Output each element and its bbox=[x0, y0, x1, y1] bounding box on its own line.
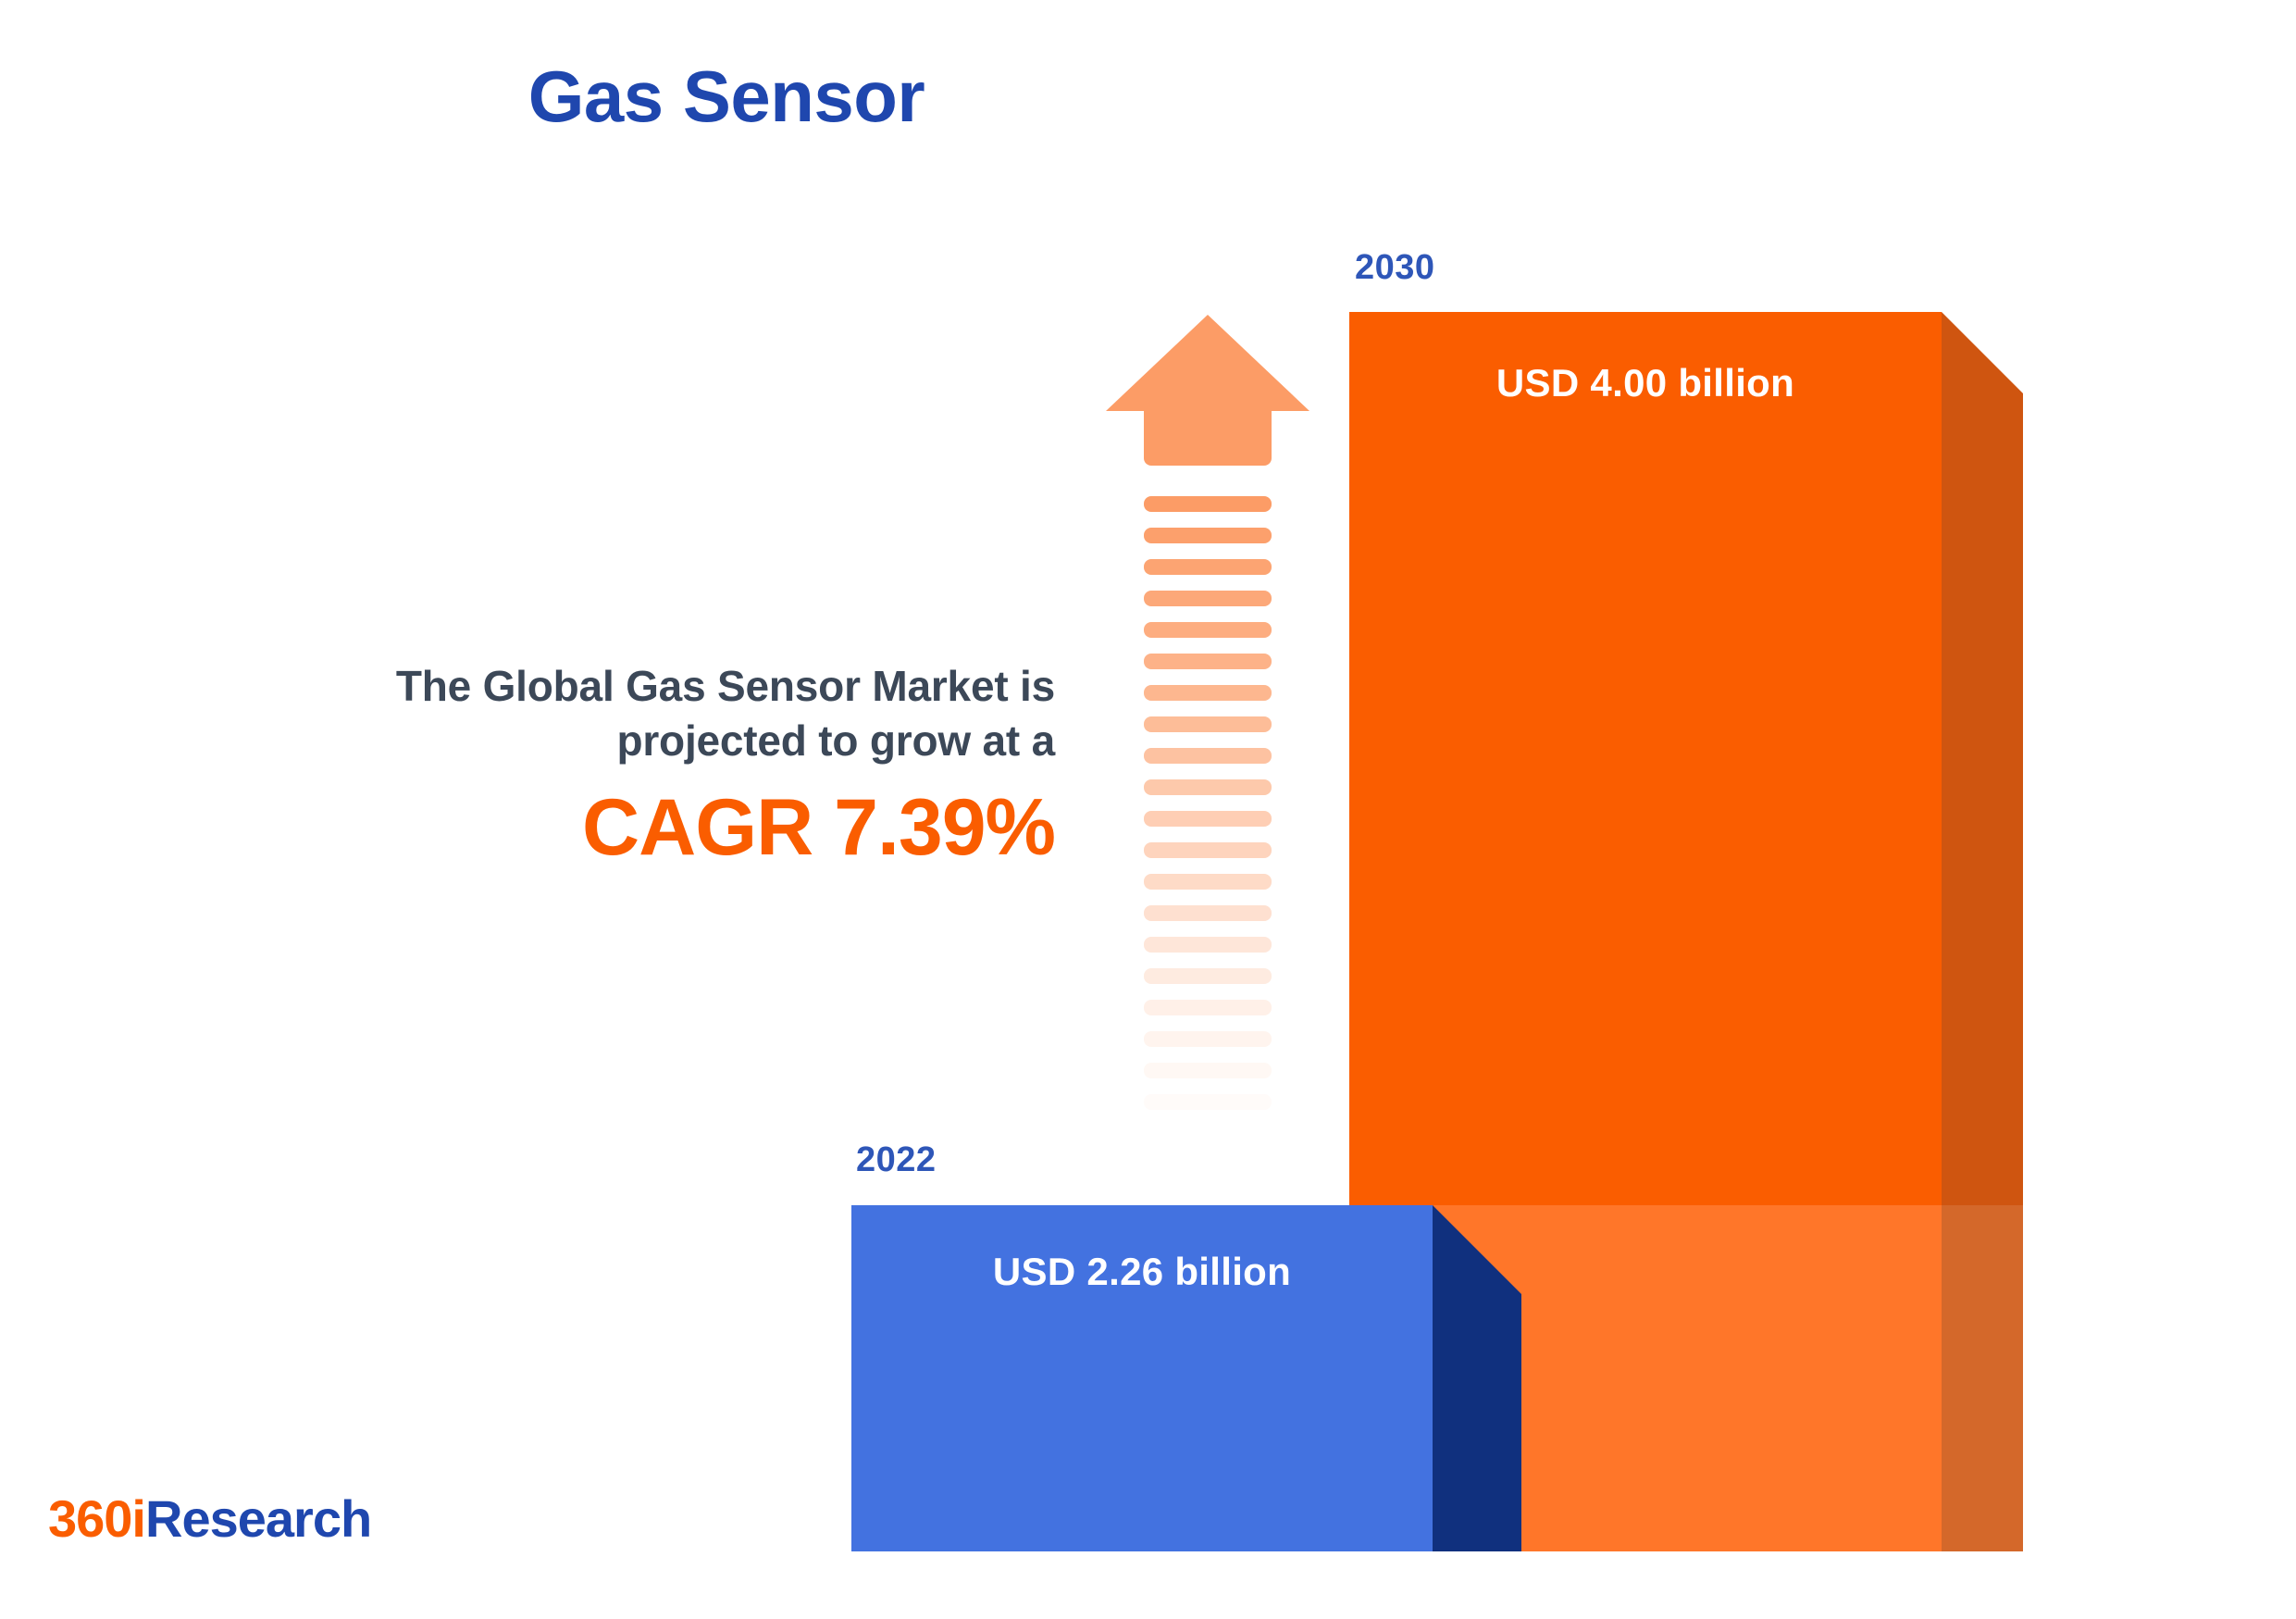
bar-2030-side-face-lower bbox=[1942, 1205, 2023, 1551]
bar-2030-value-label: USD 4.00 billion bbox=[1349, 361, 1942, 405]
bar-2030-year-label: 2030 bbox=[1355, 248, 1435, 288]
brand-logo[interactable]: 360iResearch bbox=[48, 1488, 371, 1549]
bar-chart: 2030 USD 4.00 billion 2022 USD 2.26 bill… bbox=[0, 0, 2296, 1619]
bar-2022-value-label: USD 2.26 billion bbox=[851, 1250, 1433, 1294]
infographic-canvas: Gas Sensor The Global Gas Sensor Market … bbox=[0, 0, 2296, 1619]
brand-logo-word: Research bbox=[145, 1489, 371, 1548]
brand-logo-mark: 360i bbox=[48, 1489, 145, 1548]
bar-2022-year-label: 2022 bbox=[856, 1140, 937, 1180]
